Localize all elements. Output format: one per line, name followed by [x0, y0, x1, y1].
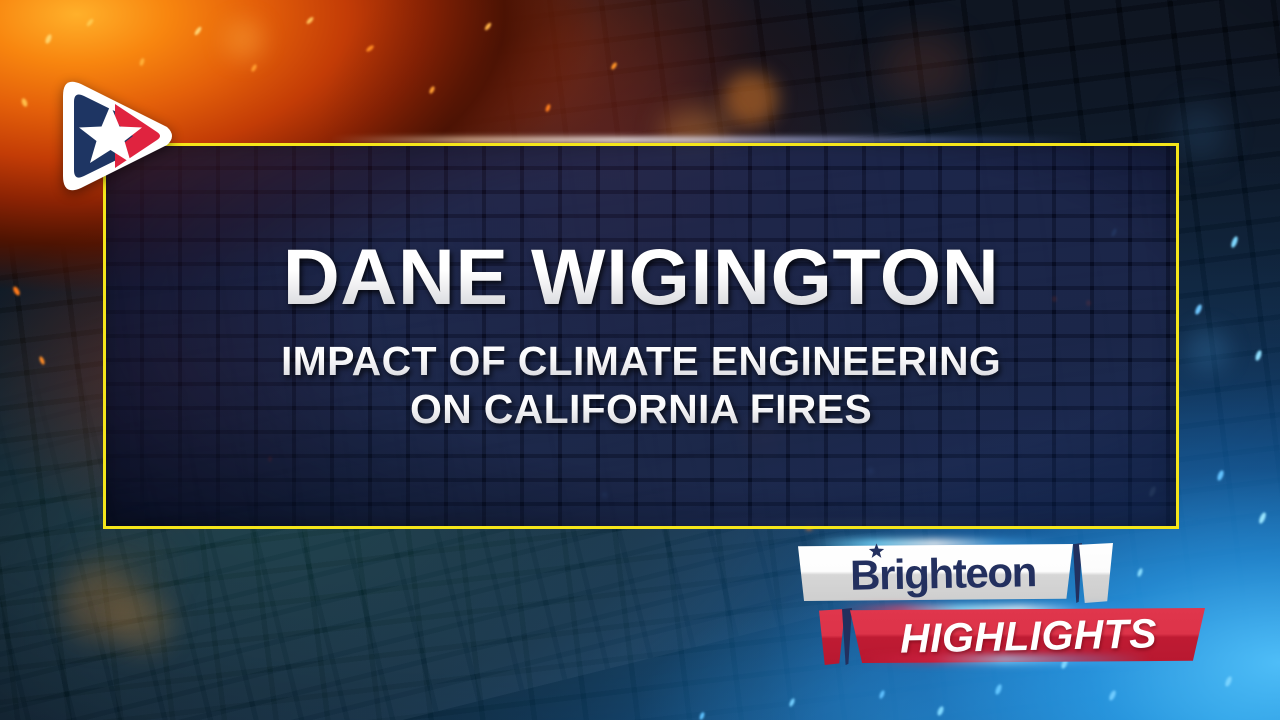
brighteon-star-icon	[868, 543, 885, 560]
guest-name-title: DANE WIGINGTON	[283, 239, 1000, 315]
brighteon-bar-slash	[1079, 543, 1113, 603]
highlights-bar-slash	[819, 609, 845, 665]
brighteon-wordmark: Brighteon	[812, 546, 1075, 601]
badge-glow	[860, 655, 1150, 664]
episode-subtitle-line-2: ON CALIFORNIA FIRES	[410, 386, 872, 434]
title-text-block: DANE WIGINGTON IMPACT OF CLIMATE ENGINEE…	[103, 143, 1179, 529]
episode-subtitle-line-1: IMPACT OF CLIMATE ENGINEERING	[281, 338, 1001, 386]
highlights-bar-divider	[842, 608, 852, 665]
video-title-card: DANE WIGINGTON IMPACT OF CLIMATE ENGINEE…	[0, 0, 1280, 720]
brighteon-play-logo-icon	[57, 74, 177, 198]
brighteon-highlights-badge: Brighteon HIGHLIGHTS	[790, 533, 1220, 668]
